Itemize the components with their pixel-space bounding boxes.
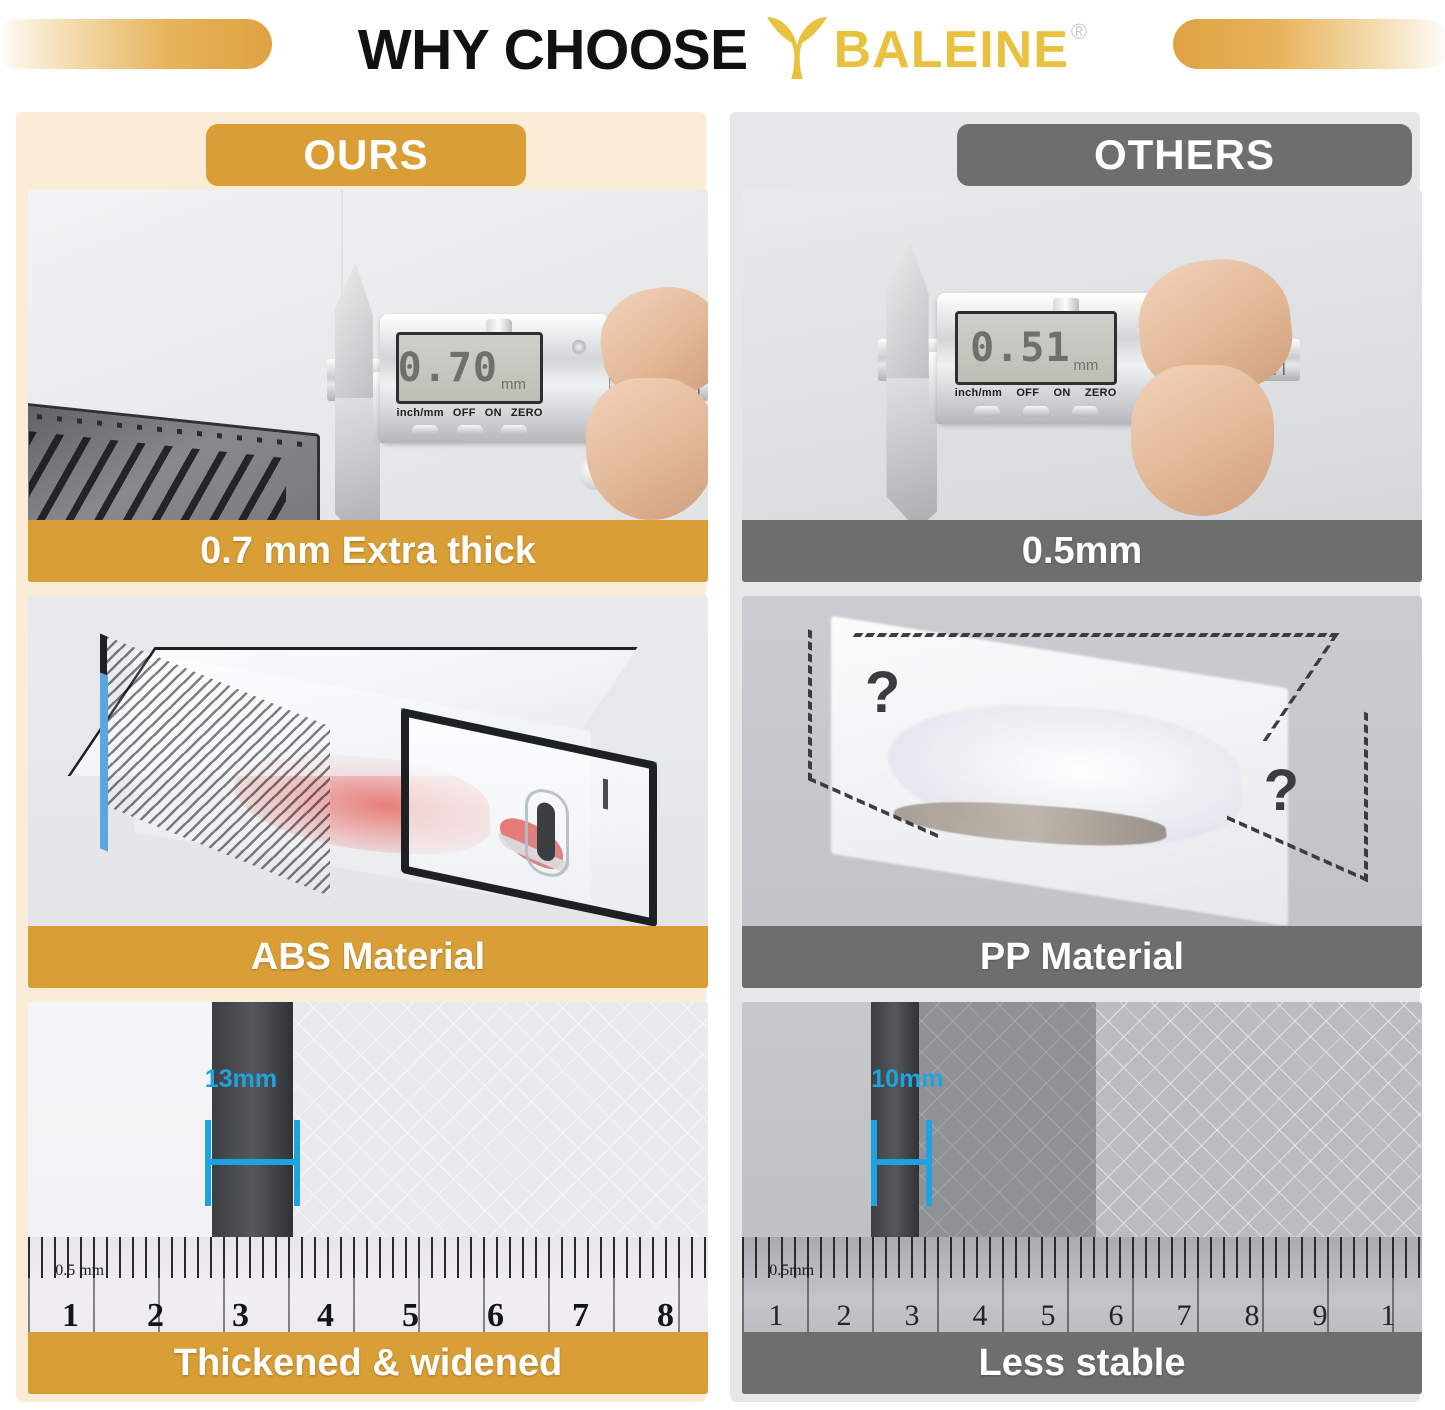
digital-caliper-object: 0.70 mm inch/mm OFF ON ZERO	[327, 237, 708, 558]
others-caption-3: Less stable	[742, 1332, 1422, 1394]
others-row-1-card: 0.51 mm inch/mm OFF ON ZERO	[742, 190, 1422, 582]
question-mark-icon-right: ?	[1264, 762, 1299, 820]
caliper-unit: mm	[501, 376, 526, 393]
measurement-label-10mm: 10mm	[871, 1065, 943, 1094]
ruler-number: 8	[1218, 1299, 1286, 1333]
caliper-label-zero: ZERO	[1085, 387, 1117, 399]
others-caption-1: 0.5mm	[742, 520, 1422, 582]
ruler-number: 9	[1286, 1299, 1354, 1333]
ruler-number: 1	[28, 1297, 113, 1335]
caliper-label-off: OFF	[1016, 387, 1039, 399]
ruler-number: 8	[623, 1297, 708, 1335]
caliper-reading: 0.70	[398, 348, 498, 388]
ruler-number: 4	[283, 1297, 368, 1335]
caliper-button-1	[412, 425, 438, 436]
registered-trademark-icon: ®	[1071, 21, 1087, 43]
caliper-label-off: OFF	[453, 407, 476, 419]
measure-bracket	[871, 1120, 932, 1206]
measurement-label-13mm: 13mm	[205, 1065, 277, 1094]
box-mesh-surface	[293, 1002, 708, 1237]
caliper-lcd-display: 0.51 mm	[955, 311, 1117, 385]
clear-shoe-box-object	[89, 647, 647, 921]
caliper-button-2	[457, 425, 483, 436]
header-gold-bar-right	[1173, 19, 1445, 69]
ruler-number: 6	[1082, 1299, 1150, 1333]
caliper-button-labels: inch/mm OFF ON ZERO	[955, 387, 1117, 399]
page-title: WHY CHOOSE	[358, 17, 748, 83]
caliper-label-on: ON	[1053, 387, 1070, 399]
whale-tail-icon	[762, 11, 832, 81]
ruler-number: 5	[368, 1297, 453, 1335]
caliper-unit: mm	[1073, 357, 1098, 374]
ruler-number: 7	[1150, 1299, 1218, 1333]
box-door-handle-icon	[525, 785, 569, 880]
digital-caliper-object: 0.51 mm inch/mm OFF ON ZERO	[878, 214, 1300, 543]
hand-thumb	[586, 378, 708, 519]
ours-caption-1: 0.7 mm Extra thick	[28, 520, 708, 582]
caliper-lcd-display: 0.70 mm	[396, 332, 542, 404]
ruler-number: 7	[538, 1297, 623, 1335]
ours-row-3-card: 13mm 0.5 mm mm 1 2 3 4 5 6	[28, 1002, 708, 1394]
ours-caption-2: ABS Material	[28, 926, 708, 988]
cloudy-shoe-box-object: ? ?	[796, 627, 1367, 933]
hand-thumb	[1131, 365, 1274, 516]
header-content: WHY CHOOSE BALEINE ®	[332, 15, 1113, 85]
ruler-number: 2	[113, 1297, 198, 1335]
ruler-fine-scale-label: 0.5 mm	[55, 1262, 104, 1280]
caliper-button-2	[1023, 406, 1049, 417]
page-header: WHY CHOOSE BALEINE ®	[0, 0, 1445, 100]
caliper-label-inchmm: inch/mm	[396, 407, 443, 419]
ours-caption-3: Thickened & widened	[28, 1332, 708, 1394]
ruler-number: 3	[198, 1297, 283, 1335]
brand-name: BALEINE	[834, 15, 1069, 85]
ours-row-1-card: 0.70 mm inch/mm OFF ON ZERO	[28, 190, 708, 582]
others-row-3-card: 10mm 0.5mm mm 1 2 3 4 5 6	[742, 1002, 1422, 1394]
ruler-fine-scale-label: 0.5mm	[769, 1262, 814, 1280]
header-gold-bar-left	[0, 19, 272, 69]
ruler-number: 1	[742, 1299, 810, 1333]
ruler-number: 3	[878, 1299, 946, 1333]
ours-row-2-card: ABS Material	[28, 596, 708, 988]
others-row-2-card: ? ? PP Material	[742, 596, 1422, 988]
question-mark-icon-left: ?	[865, 664, 900, 722]
caliper-button-labels: inch/mm OFF ON ZERO	[396, 407, 542, 419]
ruler-number: 4	[946, 1299, 1014, 1333]
ruler-number: 2	[810, 1299, 878, 1333]
caliper-label-on: ON	[485, 407, 502, 419]
caliper-label-zero: ZERO	[511, 407, 543, 419]
brand-lockup: BALEINE ®	[762, 15, 1087, 85]
caliper-label-inchmm: inch/mm	[955, 387, 1002, 399]
ruler-number: 5	[1014, 1299, 1082, 1333]
tab-ours[interactable]: OURS	[206, 124, 526, 186]
ruler-number: 1	[1354, 1299, 1422, 1333]
caliper-button-3	[501, 425, 527, 436]
caliper-button-1	[974, 406, 1000, 417]
tab-others[interactable]: OTHERS	[957, 124, 1412, 186]
measure-bracket	[205, 1120, 300, 1206]
caliper-reading: 0.51	[970, 328, 1070, 368]
ruler-number: 6	[453, 1297, 538, 1335]
caliper-button-3	[1072, 406, 1098, 417]
others-caption-2: PP Material	[742, 926, 1422, 988]
